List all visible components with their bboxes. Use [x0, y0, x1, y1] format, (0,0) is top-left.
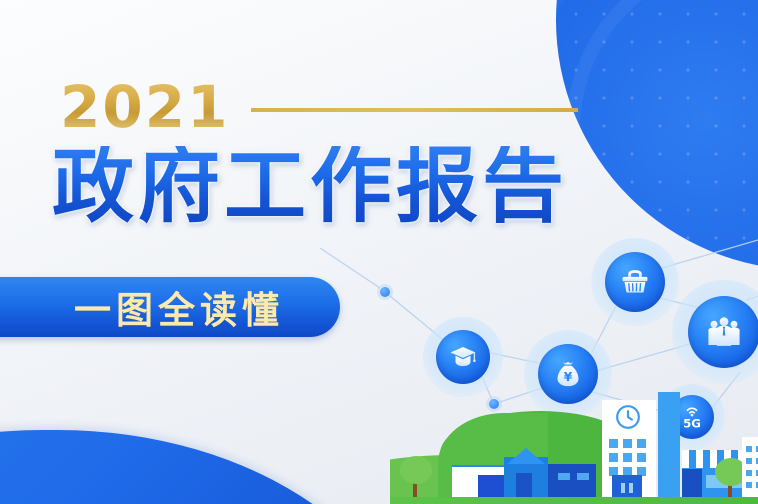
blue-house-door	[516, 473, 532, 497]
ground-strip	[390, 497, 758, 504]
awning-shop-side	[682, 469, 702, 497]
city-illustration	[390, 392, 758, 504]
money-bag-glyph: ¥	[551, 357, 585, 391]
money-bag-currency-symbol: ¥	[564, 370, 573, 384]
clock-face-icon	[615, 404, 641, 430]
graduation-cap-icon[interactable]	[436, 330, 490, 384]
shopping-basket-glyph	[618, 265, 652, 299]
tower-window	[623, 439, 632, 448]
shopping-basket-icon[interactable]	[605, 252, 665, 312]
tower-window	[637, 439, 646, 448]
tall-light-blue-tower	[658, 392, 680, 497]
tower-entrance-detail	[629, 483, 633, 493]
tower-window	[637, 453, 646, 462]
apartment-window	[746, 458, 752, 464]
apartment-window	[746, 470, 752, 476]
warehouse-window	[558, 473, 570, 480]
people-group-glyph	[703, 311, 745, 353]
apartment-window	[746, 446, 752, 452]
dark-blue-warehouse	[548, 464, 596, 497]
tower-entrance-detail	[621, 483, 625, 493]
tower-window	[609, 439, 618, 448]
tree-left-crown	[400, 456, 432, 484]
people-group-icon[interactable]	[688, 296, 758, 368]
apartment-window	[746, 482, 752, 488]
poster-canvas: 2021 政府工作报告 政府工作报告 一图全读懂	[0, 0, 758, 504]
tower-window	[623, 453, 632, 462]
tower-window	[609, 453, 618, 462]
network-dot-node	[380, 287, 390, 297]
graduation-cap-glyph	[448, 342, 478, 372]
tower-entrance	[612, 475, 642, 497]
white-low-building-door	[478, 475, 504, 497]
warehouse-window	[577, 473, 589, 480]
